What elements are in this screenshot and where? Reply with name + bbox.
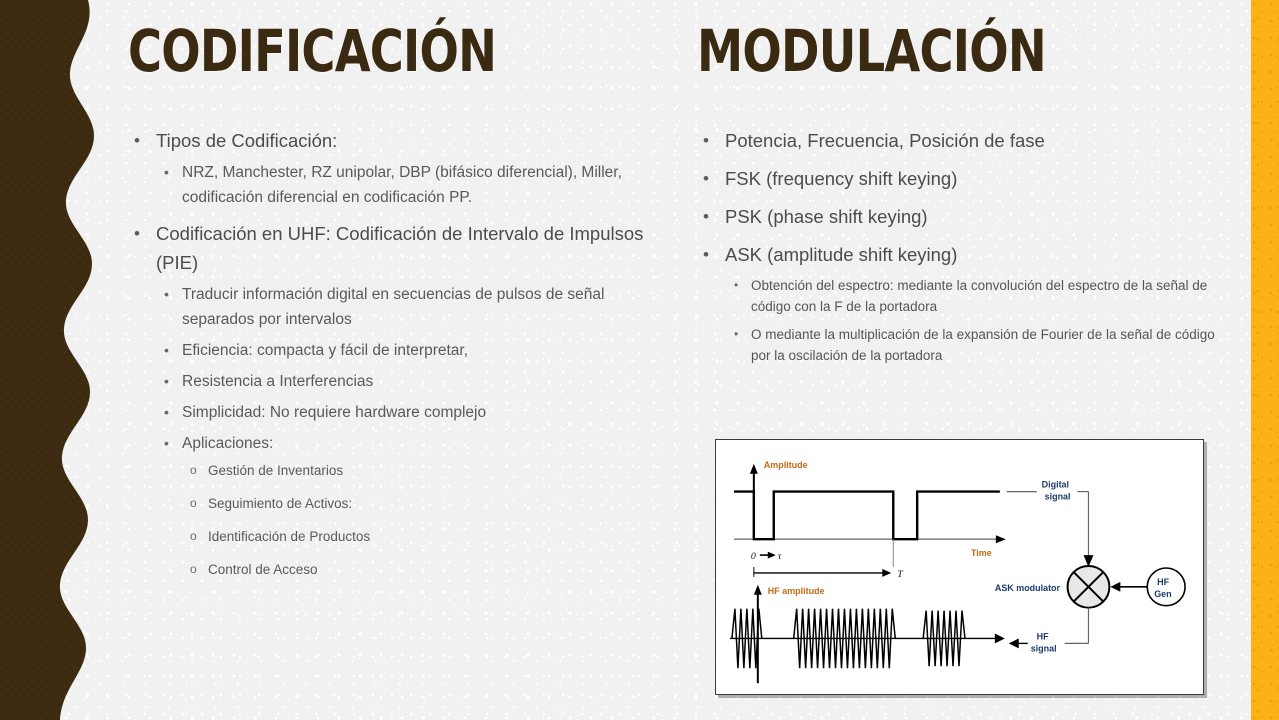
left-title: CODIFICACIÓN bbox=[128, 22, 544, 80]
ask-modulator-label: ASK modulator bbox=[995, 583, 1061, 593]
bullet-text: ASK (amplitude shift keying) bbox=[725, 240, 1217, 269]
sub-bullet-item: NRZ, Manchester, RZ unipolar, DBP (bifás… bbox=[156, 160, 648, 210]
zero-label: 0 bbox=[751, 551, 756, 562]
digital-signal-label-line2: signal bbox=[1045, 492, 1071, 502]
tau-label: τ bbox=[778, 551, 782, 562]
hf-signal-label-line2: signal bbox=[1031, 643, 1057, 653]
sub-bullet-item: Traducir información digital en secuenci… bbox=[156, 282, 648, 332]
right-title: MODULACIÓN bbox=[697, 22, 1113, 80]
hf-gen-label-line2: Gen bbox=[1154, 589, 1171, 599]
bullet-text: Tipos de Codificación: bbox=[156, 126, 648, 155]
sub-sub-bullet-item: Seguimiento de Activos: bbox=[182, 493, 648, 514]
sub-bullet-item: Aplicaciones: Gestión de Inventarios Seg… bbox=[156, 431, 648, 580]
right-content-column: MODULACIÓN Potencia, Frecuencia, Posició… bbox=[697, 0, 1217, 375]
left-bullet-list: Tipos de Codificación: NRZ, Manchester, … bbox=[128, 126, 648, 580]
amplitude-label: Amplitude bbox=[764, 460, 808, 470]
sub-sub-bullet-item: Control de Acceso bbox=[182, 559, 648, 580]
bullet-item: Codificación en UHF: Codificación de Int… bbox=[128, 219, 648, 580]
bullet-item: FSK (frequency shift keying) bbox=[697, 164, 1217, 193]
period-label: T bbox=[897, 569, 904, 580]
bullet-item: PSK (phase shift keying) bbox=[697, 202, 1217, 231]
time-label: Time bbox=[971, 548, 992, 558]
sub-bullet-list: NRZ, Manchester, RZ unipolar, DBP (bifás… bbox=[156, 160, 648, 210]
hf-gen-label-line1: HF bbox=[1157, 577, 1169, 587]
sub-bullet-list: Traducir información digital en secuenci… bbox=[156, 282, 648, 580]
bullet-text: Codificación en UHF: Codificación de Int… bbox=[156, 219, 648, 277]
digital-signal-label-line1: Digital bbox=[1042, 480, 1069, 490]
hf-signal-label-line1: HF bbox=[1037, 631, 1049, 641]
bullet-item: Tipos de Codificación: NRZ, Manchester, … bbox=[128, 126, 648, 210]
ask-modulation-diagram: Amplitude Time 0 τ T Digital signa bbox=[715, 439, 1204, 695]
right-bullet-list: Potencia, Frecuencia, Posición de fase F… bbox=[697, 126, 1217, 366]
sub-sub-bullet-item: Identificación de Productos bbox=[182, 526, 648, 547]
bullet-item: ASK (amplitude shift keying) Obtención d… bbox=[697, 240, 1217, 366]
sub-bullet-item: Eficiencia: compacta y fácil de interpre… bbox=[156, 338, 648, 363]
hf-amplitude-label: HF amplitude bbox=[768, 586, 825, 596]
sub-bullet-item: Simplicidad: No requiere hardware comple… bbox=[156, 400, 648, 425]
left-content-column: CODIFICACIÓN Tipos de Codificación: NRZ,… bbox=[128, 0, 648, 592]
sub-sub-bullet-item: Gestión de Inventarios bbox=[182, 460, 648, 481]
bullet-item: Potencia, Frecuencia, Posición de fase bbox=[697, 126, 1217, 155]
sub-sub-bullet-list: Gestión de Inventarios Seguimiento de Ac… bbox=[182, 460, 648, 580]
sub-bullet-item: O mediante la multiplicación de la expan… bbox=[725, 324, 1217, 366]
sub-bullet-item: Obtención del espectro: mediante la conv… bbox=[725, 275, 1217, 317]
sub-bullet-list: Obtención del espectro: mediante la conv… bbox=[725, 275, 1217, 366]
sub-bullet-item: Resistencia a Interferencias bbox=[156, 369, 648, 394]
sub-bullet-text: Aplicaciones: bbox=[182, 435, 273, 452]
